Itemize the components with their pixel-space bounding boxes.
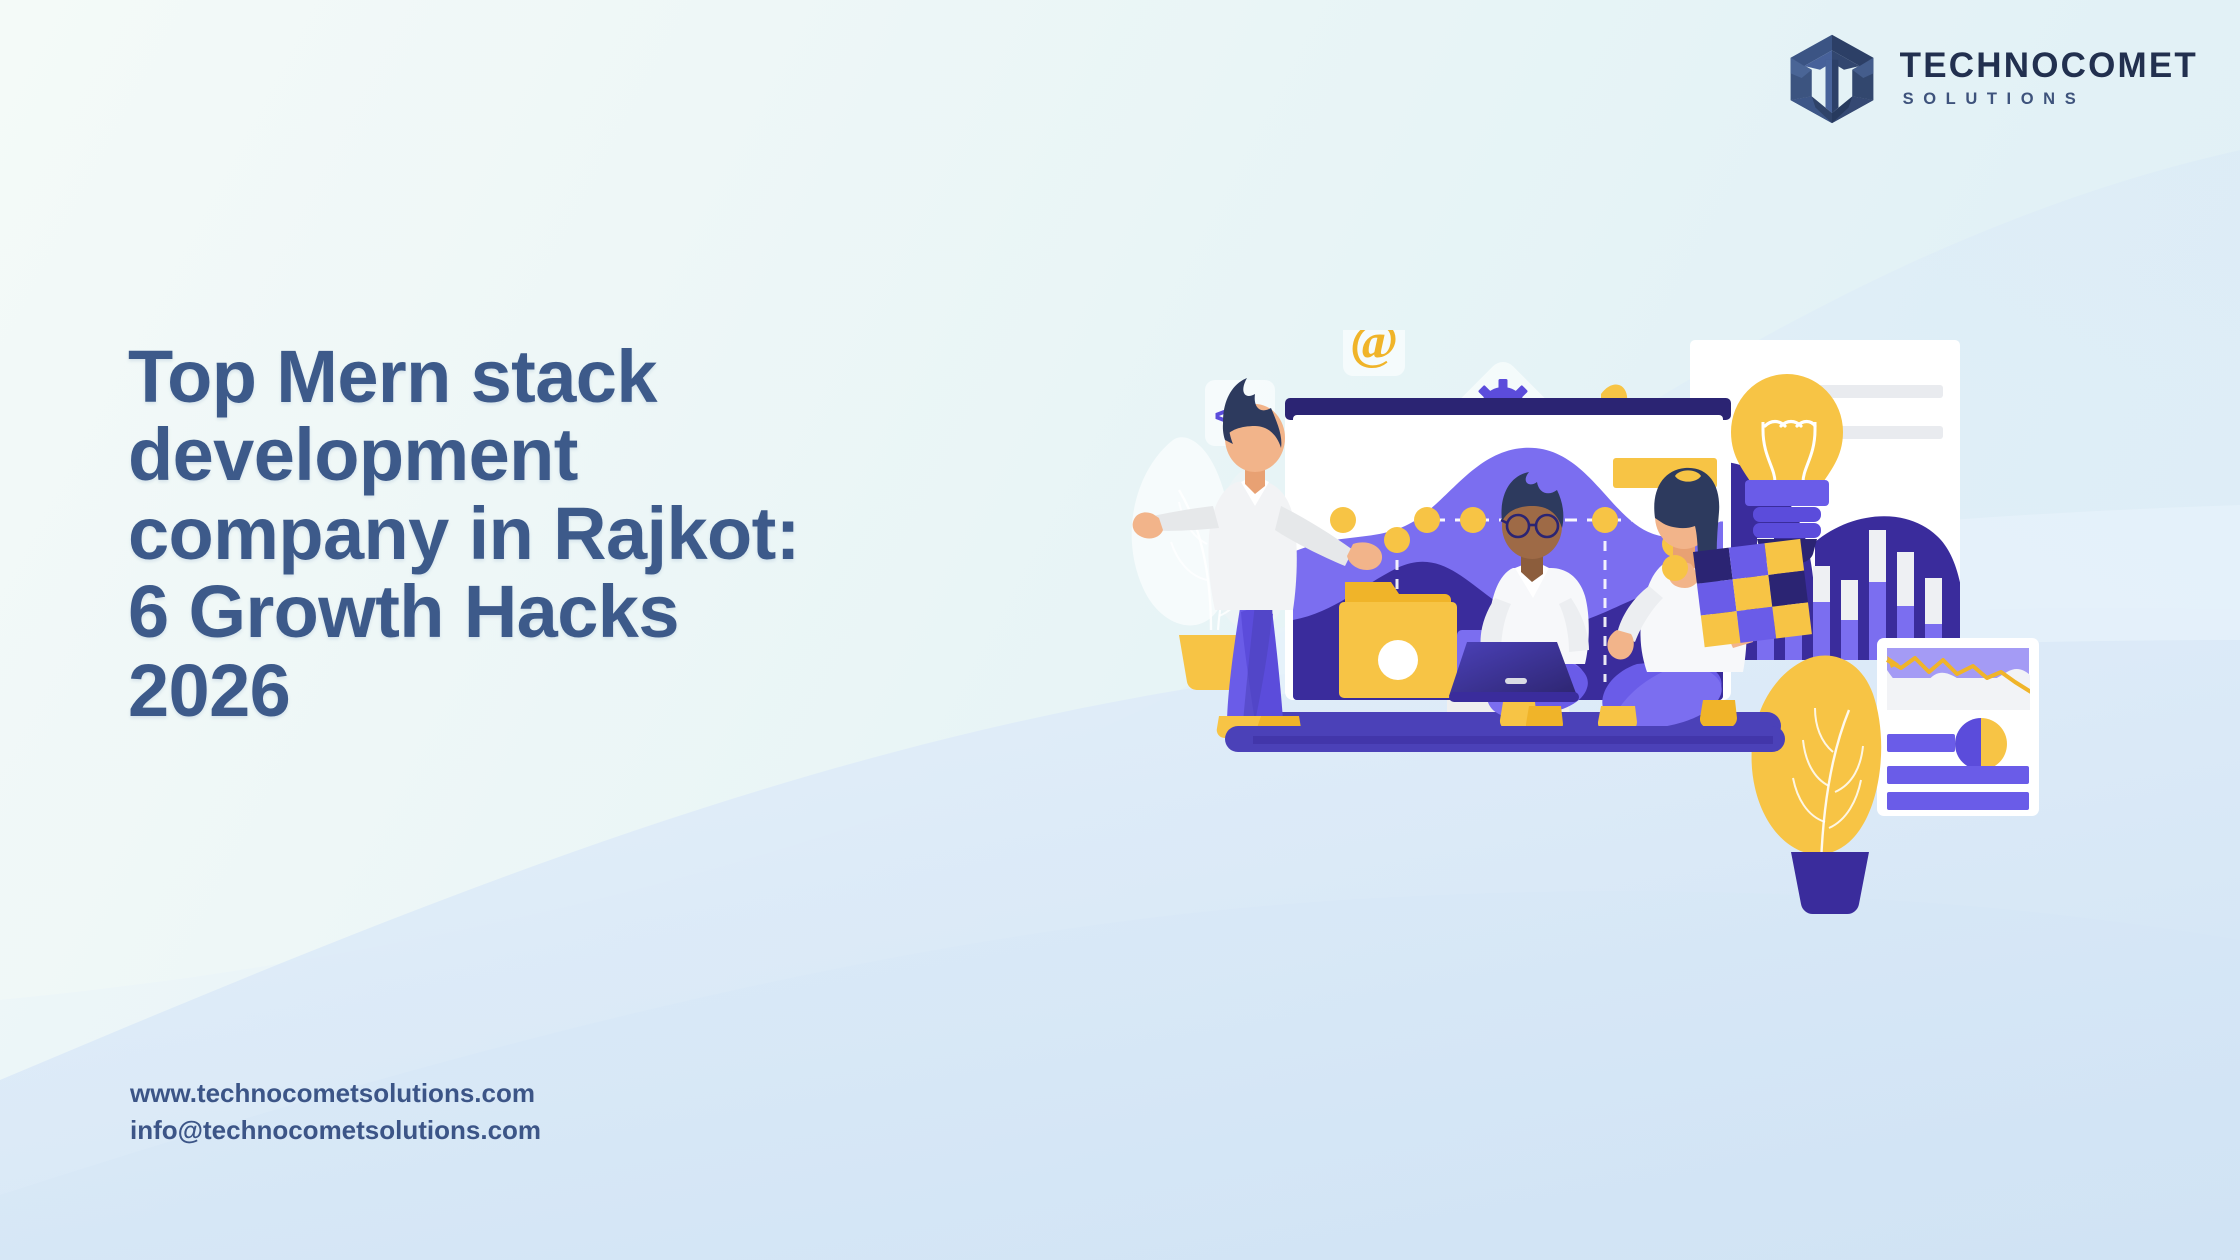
- technocomet-hexagon-logo-icon: [1786, 32, 1878, 124]
- brand-logo[interactable]: TECHNOCOMET SOLUTIONS: [1786, 32, 2198, 124]
- laptop-icon: [1449, 642, 1577, 696]
- page-title: Top Mern stack development company in Ra…: [128, 338, 1048, 730]
- data-point: [1592, 507, 1618, 533]
- headline-line-4: 6 Growth Hacks: [128, 573, 1048, 651]
- at-sign-icon: @: [1343, 330, 1405, 376]
- grid-dot: [1662, 555, 1688, 581]
- headline-line-5: 2026: [128, 652, 1048, 730]
- brand-wordmark: TECHNOCOMET SOLUTIONS: [1900, 48, 2198, 108]
- data-point: [1460, 507, 1486, 533]
- report-card-with-pie-chart: [1877, 638, 2039, 816]
- contact-block: www.technocometsolutions.com info@techno…: [130, 1075, 541, 1149]
- headline-line-1: Top Mern stack: [128, 338, 1048, 416]
- website-link[interactable]: www.technocometsolutions.com: [130, 1075, 541, 1112]
- brand-tagline: SOLUTIONS: [1900, 91, 2198, 108]
- email-link[interactable]: info@technocometsolutions.com: [130, 1112, 541, 1149]
- banner-canvas: TECHNOCOMET SOLUTIONS Top Mern stack dev…: [0, 0, 2240, 1260]
- report-bar: [1887, 734, 1955, 752]
- plant-yellow-right: [1752, 655, 1882, 914]
- folder-icon: [1339, 582, 1457, 698]
- illustration-svg: @ </>: [1115, 330, 2115, 950]
- data-point: [1330, 507, 1356, 533]
- headline-line-3: company in Rajkot:: [128, 495, 1048, 573]
- data-point: [1414, 507, 1440, 533]
- grid-panel-icon: [1693, 539, 1812, 647]
- headline-line-2: development: [128, 416, 1048, 494]
- report-bar: [1887, 766, 2029, 784]
- report-bar: [1887, 792, 2029, 810]
- hero-illustration: @ </>: [1115, 330, 2115, 950]
- svg-text:@: @: [1350, 330, 1398, 370]
- brand-name: TECHNOCOMET: [1900, 48, 2198, 83]
- data-point: [1384, 527, 1410, 553]
- pie-chart: [1955, 718, 2007, 770]
